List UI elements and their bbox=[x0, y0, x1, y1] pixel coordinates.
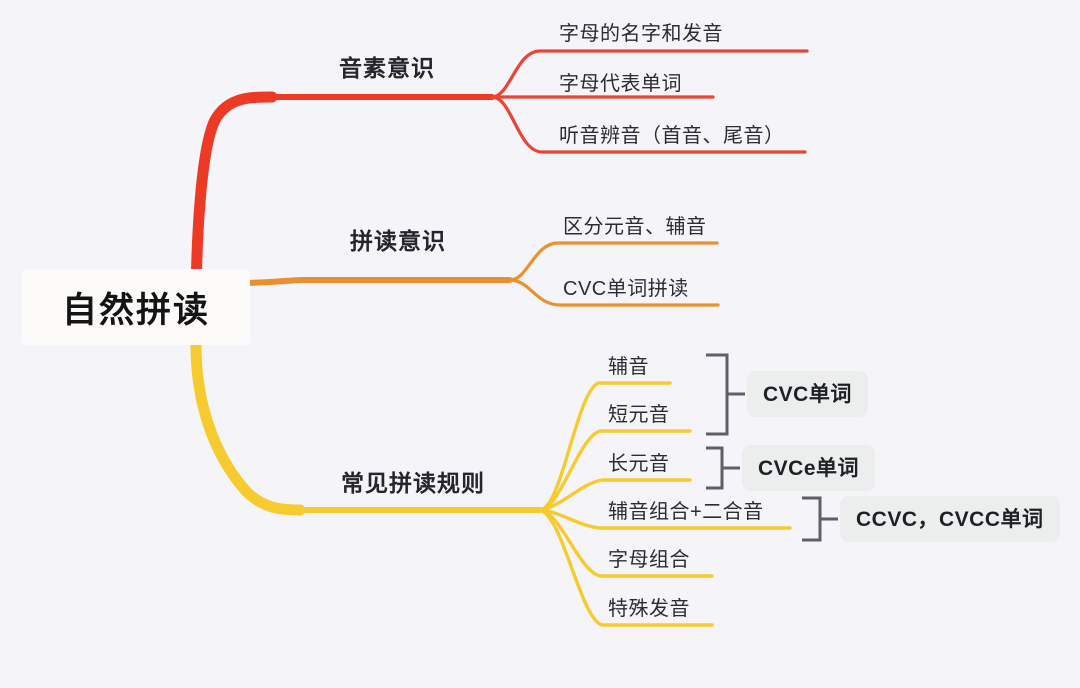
leaf-letter-combinations[interactable]: 字母组合 bbox=[608, 543, 690, 572]
bracket-ccvc-cvcc-group bbox=[802, 498, 838, 540]
branch-label-phonemic-awareness[interactable]: 音素意识 bbox=[339, 49, 435, 83]
leaf-vowel-consonant-distinction[interactable]: 区分元音、辅音 bbox=[563, 210, 707, 239]
bracket-cvce-group bbox=[706, 448, 740, 488]
root-node-label: 自然拼读 bbox=[62, 282, 210, 333]
leaf-letter-names-and-sounds[interactable]: 字母的名字和发音 bbox=[559, 17, 723, 46]
leaf-consonant-blends-digraphs[interactable]: 辅音组合+二合音 bbox=[608, 495, 764, 524]
badge-cvc-word[interactable]: CVC单词 bbox=[747, 371, 868, 417]
leaf-sound-discrimination[interactable]: 听音辨音（首音、尾音） bbox=[559, 119, 785, 148]
badge-cvce-word-label: CVCe单词 bbox=[742, 445, 875, 491]
branch-label-blending-awareness[interactable]: 拼读意识 bbox=[350, 222, 446, 256]
badge-cvc-word-label: CVC单词 bbox=[747, 371, 868, 417]
leaf-cvc-blending[interactable]: CVC单词拼读 bbox=[563, 272, 689, 301]
badge-cvce-word[interactable]: CVCe单词 bbox=[742, 445, 875, 491]
leaf-letter-words[interactable]: 字母代表单词 bbox=[559, 67, 682, 96]
branch-label-common-phonics-rules[interactable]: 常见拼读规则 bbox=[341, 464, 485, 498]
leaf-long-vowel[interactable]: 长元音 bbox=[608, 447, 670, 476]
bracket-cvc-group bbox=[706, 355, 745, 434]
trunk-blending-awareness bbox=[240, 280, 510, 283]
root-node[interactable]: 自然拼读 bbox=[22, 269, 250, 345]
leaf-consonant[interactable]: 辅音 bbox=[608, 350, 649, 379]
badge-ccvc-cvcc-word-label: CCVC，CVCC单词 bbox=[840, 496, 1060, 542]
badge-ccvc-cvcc-word[interactable]: CCVC，CVCC单词 bbox=[840, 496, 1060, 542]
leaf-special-pronunciations[interactable]: 特殊发音 bbox=[608, 592, 690, 621]
leaf-short-vowel[interactable]: 短元音 bbox=[608, 398, 670, 427]
mindmap-canvas: 自然拼读 音素意识 字母的名字和发音 字母代表单词 听音辨音（首音、尾音） 拼读… bbox=[0, 0, 1080, 688]
